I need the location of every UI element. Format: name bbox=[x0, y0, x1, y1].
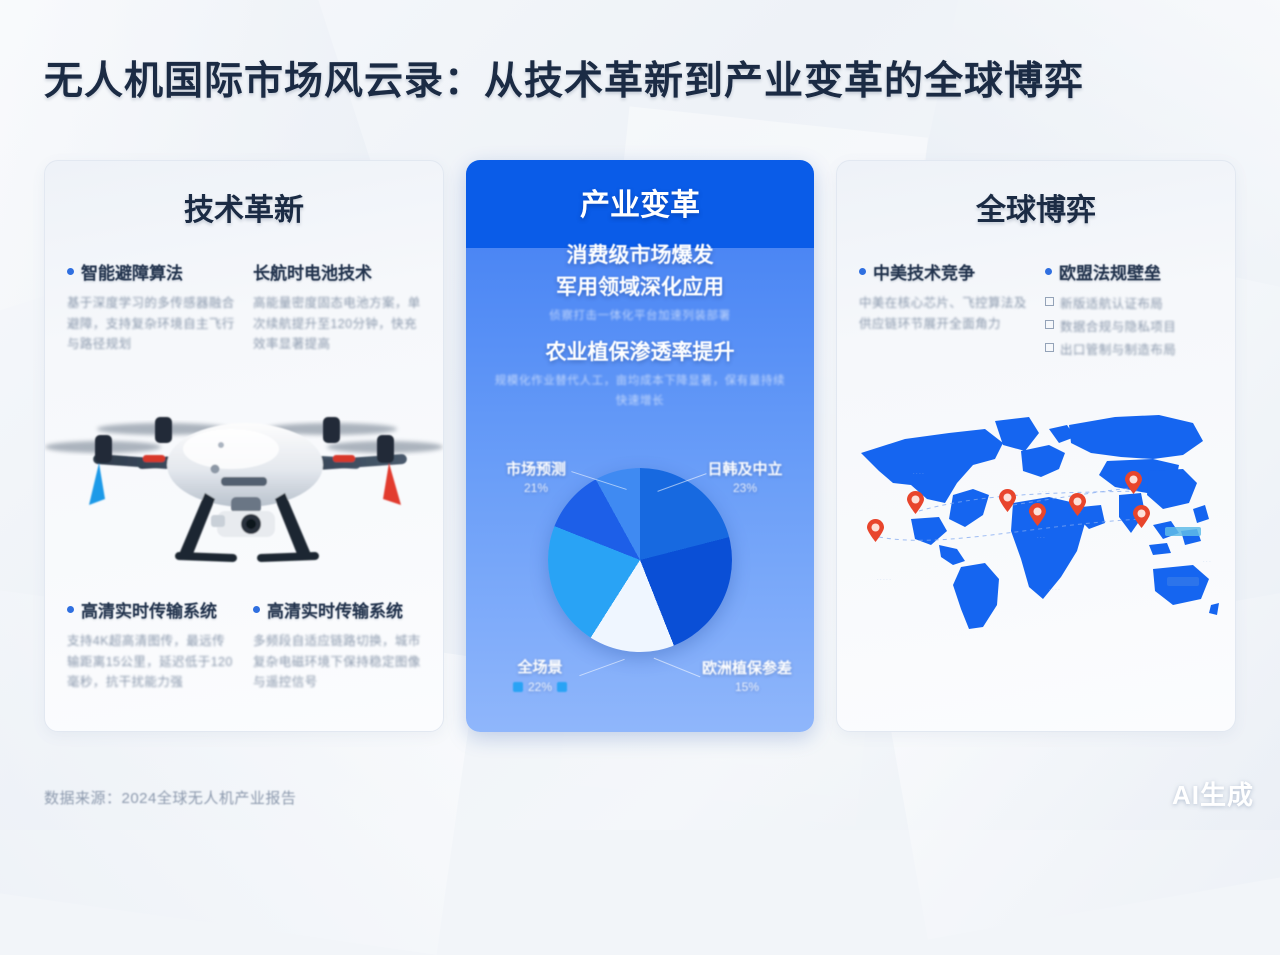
feature-heading: 智能避障算法 bbox=[67, 259, 235, 284]
card-technology-innovation[interactable]: 技术革新 智能避障算法 基于深度学习的多传感器融合避障，支持复杂环境自主飞行与路… bbox=[44, 160, 444, 732]
slide-title: 无人机国际市场风云录：从技术革新到产业变革的全球博弈 bbox=[44, 50, 1084, 106]
feature-item[interactable]: 中美技术竞争 中美在核心芯片、飞控算法及供应链环节展开全面角力 bbox=[859, 259, 1027, 362]
center-card-body: 消费级市场爆发 军用领域深化应用 侦察打击一体化平台加速列装部署 农业植保渗透率… bbox=[466, 224, 814, 411]
pie-label-europe: 欧洲植保参差 15% bbox=[682, 657, 812, 694]
feature-heading: 长航时电池技术 bbox=[253, 259, 421, 284]
svg-text:· · ·: · · · bbox=[1203, 559, 1211, 565]
world-map-icon: · · · · · · · · · · · · · · · · · · · · … bbox=[853, 399, 1221, 639]
pie-legend: 22% bbox=[480, 680, 600, 694]
checkbox-icon[interactable] bbox=[1045, 320, 1054, 329]
pie-graphic bbox=[548, 468, 732, 652]
feature-body: 支持4K超高清图传，最远传输距离15公里，延迟低于120毫秒，抗干扰能力强 bbox=[67, 631, 235, 693]
svg-text:· · · ·: · · · · bbox=[913, 471, 924, 477]
drone-illustration bbox=[45, 389, 443, 589]
feature-body: 基于深度学习的多传感器融合避障，支持复杂环境自主飞行与路径规划 bbox=[67, 293, 235, 355]
card-industry-transformation[interactable]: 产业变革 消费级市场爆发 军用领域深化应用 侦察打击一体化平台加速列装部署 农业… bbox=[466, 160, 814, 732]
feature-title: 高清实时传输系统 bbox=[81, 597, 217, 622]
card-title: 技术革新 bbox=[45, 161, 443, 229]
bullet-dot-icon bbox=[859, 268, 866, 275]
industry-heading: 军用领域深化应用 bbox=[492, 272, 788, 304]
industry-subtext: 规模化作业替代人工，亩均成本下降显著，保有量持续快速增长 bbox=[492, 372, 788, 411]
legend-swatch-icon bbox=[513, 682, 523, 692]
svg-text:· · · ·: · · · · bbox=[1039, 489, 1050, 495]
checklist-item[interactable]: 数据合规与隐私项目 bbox=[1045, 316, 1213, 335]
card-global-competition[interactable]: 全球博弈 中美技术竞争 中美在核心芯片、飞控算法及供应链环节展开全面角力 欧盟法… bbox=[836, 160, 1236, 732]
bullet-dot-icon bbox=[1045, 268, 1052, 275]
feature-item[interactable]: 高清实时传输系统 支持4K超高清图传，最远传输距离15公里，延迟低于120毫秒，… bbox=[67, 597, 235, 693]
industry-heading: 消费级市场爆发 bbox=[492, 240, 788, 272]
source-footer: 数据来源：2024全球无人机产业报告 bbox=[44, 787, 296, 808]
drone-icon bbox=[45, 389, 444, 589]
feature-title: 高清实时传输系统 bbox=[267, 597, 403, 622]
feature-heading: 欧盟法规壁垒 bbox=[1045, 259, 1213, 284]
bullet-dot-icon bbox=[67, 268, 74, 275]
feature-body: 多频段自适应链路切换，城市复杂电磁环境下保持稳定图像与遥控信号 bbox=[253, 631, 421, 693]
feature-title: 欧盟法规壁垒 bbox=[1059, 259, 1161, 284]
svg-text:· · ·: · · · bbox=[1037, 535, 1045, 541]
card-row: 技术革新 智能避障算法 基于深度学习的多传感器融合避障，支持复杂环境自主飞行与路… bbox=[44, 160, 1236, 732]
svg-text:· · · · ·: · · · · · bbox=[877, 577, 891, 583]
legend-swatch-icon bbox=[557, 682, 567, 692]
feature-grid-top: 中美技术竞争 中美在核心芯片、飞控算法及供应链环节展开全面角力 欧盟法规壁垒 新… bbox=[837, 229, 1235, 362]
checklist-item[interactable]: 新版适航认证布局 bbox=[1045, 293, 1213, 312]
world-map[interactable]: · · · · · · · · · · · · · · · · · · · · … bbox=[853, 399, 1221, 659]
card-title: 全球博弈 bbox=[837, 161, 1235, 229]
feature-title: 长航时电池技术 bbox=[253, 259, 372, 284]
bullet-dot-icon bbox=[67, 606, 74, 613]
svg-text:· · · ·: · · · · bbox=[1049, 587, 1060, 593]
regulation-item[interactable]: 欧盟法规壁垒 新版适航认证布局 数据合规与隐私项目 出口管制与制造布局 bbox=[1045, 259, 1213, 362]
feature-item[interactable]: 高清实时传输系统 多频段自适应链路切换，城市复杂电磁环境下保持稳定图像与遥控信号 bbox=[253, 597, 421, 693]
card-title: 产业变革 bbox=[466, 160, 814, 224]
market-pie-chart[interactable]: 市场预测 21% 日韩及中立 23% 欧洲植保参差 15% 全场景 2 bbox=[466, 450, 814, 720]
feature-title: 智能避障算法 bbox=[81, 259, 183, 284]
industry-heading: 农业植保渗透率提升 bbox=[492, 337, 788, 369]
checklist-item[interactable]: 出口管制与制造布局 bbox=[1045, 339, 1213, 358]
pie-label-japan-korea: 日韩及中立 23% bbox=[684, 458, 806, 495]
feature-grid-bottom: 高清实时传输系统 支持4K超高清图传，最远传输距离15公里，延迟低于120毫秒，… bbox=[45, 597, 443, 693]
bullet-dot-icon bbox=[253, 606, 260, 613]
feature-item[interactable]: 长航时电池技术 高能量密度固态电池方案，单次续航提升至120分钟，快充效率显著提… bbox=[253, 259, 421, 355]
checkbox-icon[interactable] bbox=[1045, 343, 1054, 352]
pie-label-market-forecast: 市场预测 21% bbox=[476, 458, 596, 495]
feature-body: 中美在核心芯片、飞控算法及供应链环节展开全面角力 bbox=[859, 293, 1027, 334]
industry-subtext: 侦察打击一体化平台加速列装部署 bbox=[492, 307, 788, 327]
feature-heading: 中美技术竞争 bbox=[859, 259, 1027, 284]
checkbox-icon[interactable] bbox=[1045, 297, 1054, 306]
feature-title: 中美技术竞争 bbox=[873, 259, 975, 284]
feature-grid-top: 智能避障算法 基于深度学习的多传感器融合避障，支持复杂环境自主飞行与路径规划 长… bbox=[45, 229, 443, 355]
feature-body: 高能量密度固态电池方案，单次续航提升至120分钟，快充效率显著提高 bbox=[253, 293, 421, 355]
feature-heading: 高清实时传输系统 bbox=[253, 597, 421, 622]
ai-watermark: AI生成 bbox=[1172, 775, 1254, 812]
feature-item[interactable]: 智能避障算法 基于深度学习的多传感器融合避障，支持复杂环境自主飞行与路径规划 bbox=[67, 259, 235, 355]
feature-heading: 高清实时传输系统 bbox=[67, 597, 235, 622]
